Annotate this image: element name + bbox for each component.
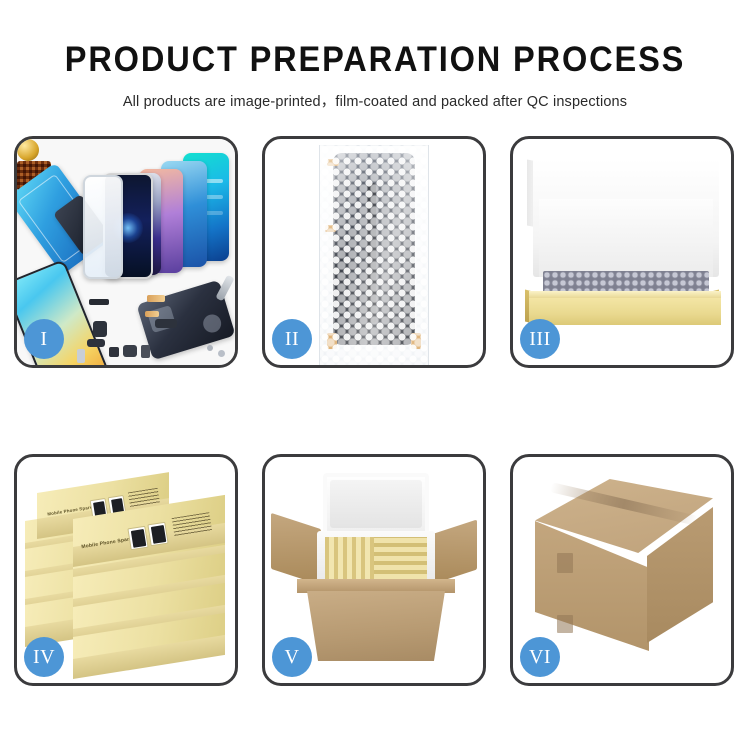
step-panel-4: Mobile Phone Spare Parts Mobile Phone Sp… xyxy=(14,454,238,686)
page-subtitle: All products are image-printed，film-coat… xyxy=(0,80,750,111)
component-chip-2 xyxy=(109,347,119,357)
component-chip-4 xyxy=(141,345,150,358)
yellow-box-front xyxy=(529,297,721,325)
component-chip-1 xyxy=(89,299,109,305)
product-preparation-infographic: PRODUCT PREPARATION PROCESS All products… xyxy=(0,0,750,750)
component-flex-2 xyxy=(87,339,105,347)
carton-rim xyxy=(297,579,455,593)
screen-protector-glass xyxy=(83,175,123,279)
step-panel-6: VI xyxy=(510,454,734,686)
component-chip-5 xyxy=(77,349,85,363)
process-steps-grid: I II xyxy=(14,136,736,686)
header: PRODUCT PREPARATION PROCESS All products… xyxy=(0,0,750,111)
gold-connector-disc xyxy=(17,139,39,161)
box-label-screen-2a xyxy=(127,526,148,551)
step-panel-5: V xyxy=(262,454,486,686)
step-badge-5: V xyxy=(272,637,312,677)
carton-flap-left xyxy=(271,513,321,585)
component-ribbon-2 xyxy=(145,311,159,317)
inner-boxes-loaded xyxy=(325,537,427,583)
box-label-screen-2b xyxy=(147,522,168,547)
component-flex-3 xyxy=(155,319,177,328)
component-flex-1 xyxy=(93,321,107,337)
page-title: PRODUCT PREPARATION PROCESS xyxy=(26,0,724,80)
component-screw-1 xyxy=(218,350,225,357)
plastic-sheen xyxy=(320,145,428,365)
step-panel-3: III xyxy=(510,136,734,368)
component-chip-3 xyxy=(123,345,137,357)
step-badge-6: VI xyxy=(520,637,560,677)
carton-tape-upper xyxy=(557,553,573,573)
carton-front-panel xyxy=(307,591,445,661)
step-badge-2: II xyxy=(272,319,312,359)
stacked-box-fr-4 xyxy=(73,637,225,673)
step-panel-1: I xyxy=(14,136,238,368)
carton-tape-lower xyxy=(557,615,573,633)
component-ribbon-1 xyxy=(147,295,165,302)
step-badge-3: III xyxy=(520,319,560,359)
foam-box-lid xyxy=(323,473,429,535)
component-screw-2 xyxy=(207,345,213,351)
carton-flap-right xyxy=(431,520,477,585)
step-badge-4: IV xyxy=(24,637,64,677)
step-badge-1: I xyxy=(24,319,64,359)
step-panel-2: II xyxy=(262,136,486,368)
foam-insert xyxy=(539,199,713,277)
yellow-box-rim xyxy=(529,291,721,298)
